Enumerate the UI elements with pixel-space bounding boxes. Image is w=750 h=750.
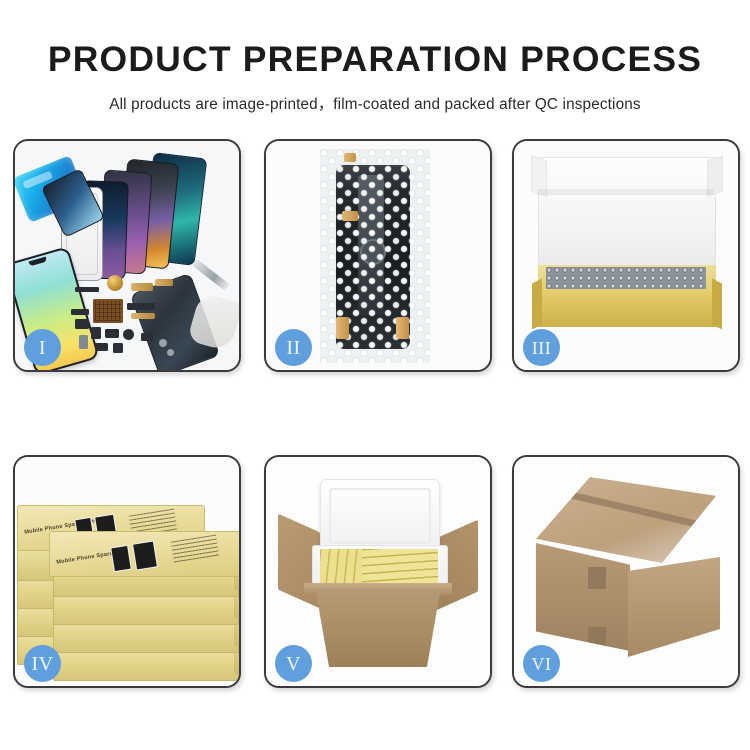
steps-grid: I Mobile phone LCD screens, tempered gla… — [0, 139, 750, 684]
page-title: PRODUCT PREPARATION PROCESS — [0, 0, 750, 78]
step-panel-carton-sealed: VI Sealed and taped kraft carton ready f… — [512, 455, 740, 688]
step-panel-carton-loading: V Boxes loaded into a foam-lined cardboa… — [264, 455, 492, 688]
bubble-wrap-bag — [320, 149, 430, 363]
carton-body — [310, 589, 446, 667]
step-badge-4: IV — [24, 645, 61, 682]
step-panel-inner-box-packing: III Bubble-wrapped parts placed into a y… — [512, 139, 740, 372]
bubble-wrap-contents — [546, 267, 706, 289]
step-panel-parts-overview: I Mobile phone LCD screens, tempered gla… — [13, 139, 241, 372]
spare-parts-cluster — [71, 273, 181, 365]
step-badge-1: I — [24, 329, 61, 366]
tape-bottom-left — [336, 317, 349, 339]
page-subtitle: All products are image-printed，film-coat… — [0, 78, 750, 114]
box-art-screen-d — [132, 540, 158, 570]
foam-lid — [320, 479, 440, 553]
carton-tab-upper — [588, 567, 606, 589]
yellow-boxes-row-b — [362, 549, 438, 587]
step-badge-2: II — [275, 329, 312, 366]
step-badge-6: VI — [523, 645, 560, 682]
header: PRODUCT PREPARATION PROCESS All products… — [0, 0, 750, 114]
step-panel-bubble-wrap-packing: II Individual part sealed inside a bubbl… — [264, 139, 492, 372]
kraft-box-top-front: Mobile Phone Spare Parts — [49, 531, 239, 577]
product-preparation-infographic: PRODUCT PREPARATION PROCESS All products… — [0, 0, 750, 750]
step-panel-boxes-stacked: Mobile Phone Spare Parts Mobile Phone Sp… — [13, 455, 241, 688]
tape-middle — [342, 211, 358, 221]
step-badge-5: V — [275, 645, 312, 682]
box-art-screen-c — [110, 545, 132, 573]
tape-bottom-right — [396, 317, 409, 339]
box-lid-open — [538, 157, 716, 281]
tape-top — [344, 153, 356, 162]
step-badge-3: III — [523, 329, 560, 366]
yellow-box-tray — [532, 265, 722, 327]
